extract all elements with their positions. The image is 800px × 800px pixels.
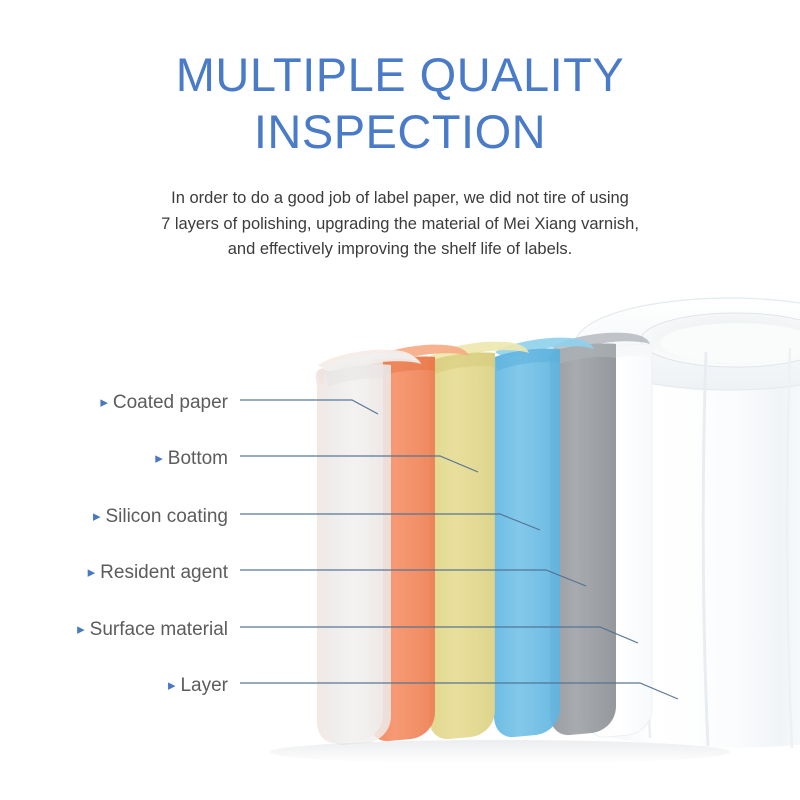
callout-layer: ▸Layer (0, 675, 228, 697)
callout-label: Coated paper (113, 392, 228, 414)
infographic-canvas: MULTIPLE QUALITY INSPECTION In order to … (0, 0, 800, 800)
callout-label: Layer (180, 675, 228, 697)
page-title: MULTIPLE QUALITY INSPECTION (0, 46, 800, 160)
bullet-arrow-icon: ▸ (155, 449, 163, 467)
callout-resident-agent: ▸Resident agent (0, 562, 228, 584)
bullet-arrow-icon: ▸ (100, 393, 108, 411)
bullet-arrow-icon: ▸ (93, 507, 101, 525)
callout-bottom: ▸Bottom (0, 448, 228, 470)
callout-coated-paper: ▸Coated paper (0, 392, 228, 414)
page-subtitle: In order to do a good job of label paper… (60, 186, 740, 263)
callout-label: Bottom (168, 448, 228, 470)
bullet-arrow-icon: ▸ (88, 563, 96, 581)
callout-label: Silicon coating (105, 506, 228, 528)
bullet-arrow-icon: ▸ (168, 676, 176, 694)
callout-surface-material: ▸Surface material (0, 619, 228, 641)
callout-silicon-coating: ▸Silicon coating (0, 506, 228, 528)
bullet-arrow-icon: ▸ (77, 620, 85, 638)
callout-label: Resident agent (100, 562, 228, 584)
callout-label: Surface material (90, 619, 228, 641)
